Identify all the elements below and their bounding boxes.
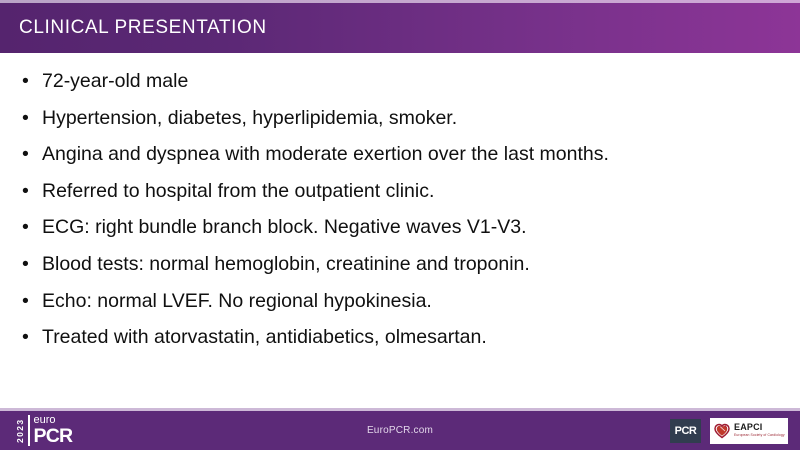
list-item: • Echo: normal LVEF. No regional hypokin…	[0, 283, 800, 320]
heart-icon	[714, 423, 730, 439]
slide-header: CLINICAL PRESENTATION	[0, 3, 800, 53]
list-item-text: 72-year-old male	[42, 70, 188, 92]
list-item: • ECG: right bundle branch block. Negati…	[0, 209, 800, 246]
list-item: • Hypertension, diabetes, hyperlipidemia…	[0, 100, 800, 137]
logo-wordmark: euro PCR	[34, 415, 73, 446]
list-item: • Treated with atorvastatin, antidiabeti…	[0, 319, 800, 356]
list-item-text: Hypertension, diabetes, hyperlipidemia, …	[42, 107, 457, 129]
list-item: • 72-year-old male	[0, 63, 800, 100]
logo-pcr-text: PCR	[34, 426, 73, 446]
bullet-marker-icon: •	[22, 246, 29, 283]
eapci-text-block: EAPCI European Society of Cardiology	[734, 423, 785, 437]
footer-partner-logos: PCR EAPCI European Society of Cardiology	[670, 411, 788, 450]
list-item-text: Angina and dyspnea with moderate exertio…	[42, 143, 609, 165]
slide-body: • 72-year-old male • Hypertension, diabe…	[0, 63, 800, 403]
bullet-list: • 72-year-old male • Hypertension, diabe…	[0, 63, 800, 356]
list-item-text: Blood tests: normal hemoglobin, creatini…	[42, 253, 530, 275]
eapci-name-text: EAPCI	[734, 423, 785, 432]
europcr-logo: 2023 euro PCR	[16, 414, 72, 447]
list-item: • Angina and dyspnea with moderate exert…	[0, 136, 800, 173]
pcr-badge-logo: PCR	[670, 419, 701, 443]
eapci-subtitle-text: European Society of Cardiology	[734, 434, 785, 437]
logo-divider	[28, 415, 30, 446]
slide-clinical-presentation: CLINICAL PRESENTATION • 72-year-old male…	[0, 0, 800, 450]
bullet-marker-icon: •	[22, 136, 29, 173]
list-item: • Blood tests: normal hemoglobin, creati…	[0, 246, 800, 283]
list-item-text: Treated with atorvastatin, antidiabetics…	[42, 326, 487, 348]
eapci-logo: EAPCI European Society of Cardiology	[710, 418, 788, 444]
slide-footer: 2023 euro PCR EuroPCR.com PCR	[0, 411, 800, 450]
footer-content: 2023 euro PCR EuroPCR.com PCR	[0, 411, 800, 450]
pcr-badge-text: PCR	[675, 425, 697, 437]
bullet-marker-icon: •	[22, 209, 29, 246]
list-item: • Referred to hospital from the outpatie…	[0, 173, 800, 210]
list-item-text: Echo: normal LVEF. No regional hypokines…	[42, 290, 432, 312]
bullet-marker-icon: •	[22, 63, 29, 100]
bullet-marker-icon: •	[22, 173, 29, 210]
list-item-text: Referred to hospital from the outpatient…	[42, 180, 434, 202]
logo-year-text: 2023	[16, 416, 25, 446]
page-title: CLINICAL PRESENTATION	[0, 17, 267, 39]
bullet-marker-icon: •	[22, 283, 29, 320]
list-item-text: ECG: right bundle branch block. Negative…	[42, 216, 527, 238]
bullet-marker-icon: •	[22, 319, 29, 356]
bullet-marker-icon: •	[22, 100, 29, 137]
